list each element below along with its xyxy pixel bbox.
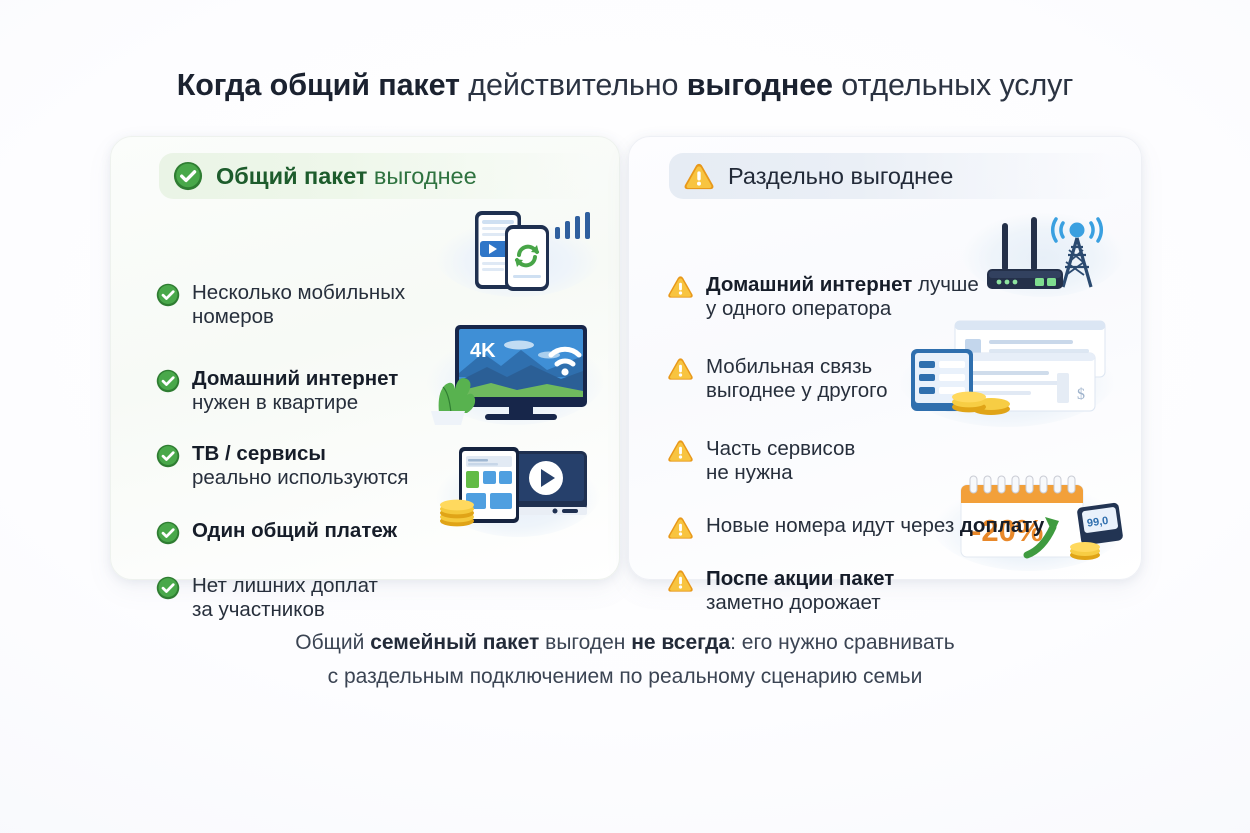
footer-note: Общий семейный пакет выгоден не всегда: … [0,626,1250,694]
svg-text:$: $ [1077,386,1085,403]
check-circle-icon [156,576,180,600]
warning-triangle-icon [667,275,694,299]
list-item: Несколько мобильных номеров [156,281,405,329]
list-item: Домашний интернет лучше у одного операто… [667,273,979,321]
footer-line-2: с раздельным подключением по реальному с… [0,660,1250,694]
check-circle-icon [156,444,180,468]
list-item-text: Часть сервисов не нужна [706,437,855,485]
list-item: Мобильная связь выгоднее у другого [667,355,888,403]
warning-triangle-icon [683,162,715,191]
check-circle-icon [156,369,180,393]
title-part-2: действительно [460,68,687,102]
list-item-text: Поспе акции пакет заметно дорожает [706,567,894,615]
list-item-text: Домашний интернет лучше у одного операто… [706,273,979,321]
panel-cons: Раздельно выгоднее [628,136,1142,580]
footer-line-1: Общий семейный пакет выгоден не всегда: … [0,626,1250,660]
svg-text:4K: 4K [470,340,496,362]
page-title: Когда общий пакет действительно выгоднее… [0,68,1250,103]
check-circle-icon [156,283,180,307]
title-part-3: выгоднее [687,68,833,102]
check-circle-icon [156,521,180,545]
list-item: Новые номера идут через доплату [667,514,1044,540]
price-tag-label: 99,0 [1086,515,1109,530]
infographic-canvas: Когда общий пакет действительно выгоднее… [0,0,1250,833]
list-item-text: Нет лишних доплат за участников [192,574,378,622]
warning-triangle-icon [667,357,694,381]
check-circle-icon [173,161,203,191]
panel-cons-header-label: Раздельно выгоднее [728,163,953,190]
list-item: Нет лишних доплат за участников [156,574,378,622]
documents-tablet-coins-illustration: $ [895,317,1119,427]
list-item-text: ТВ / сервисы реально используются [192,442,409,490]
list-item-text: Один общий платеж [192,519,397,543]
warning-triangle-icon [667,516,694,540]
title-part-1: Когда общий пакет [177,68,460,102]
list-item: Поспе акции пакет заметно дорожает [667,567,894,615]
list-item-text: Новые номера идут через доплату [706,514,1044,538]
list-item-text: Несколько мобильных номеров [192,281,405,329]
tablet-video-coins-illustration [433,437,603,537]
list-item: ТВ / сервисы реально используются [156,442,409,490]
panel-pros: Общий пакет выгоднее [110,136,620,580]
tv-4k-illustration: 4K [423,317,608,425]
title-part-4: отдельных услуг [833,68,1073,102]
list-item: Домашний интернет нужен в квартире [156,367,398,415]
list-item: Один общий платеж [156,519,397,545]
list-item-text: Мобильная связь выгоднее у другого [706,355,888,403]
panel-pros-header: Общий пакет выгоднее [159,153,593,199]
panel-cons-header: Раздельно выгоднее [669,153,1115,199]
list-item-text: Домашний интернет нужен в квартире [192,367,398,415]
list-item: Часть сервисов не нужна [667,437,855,485]
warning-triangle-icon [667,439,694,463]
router-tower-illustration [959,195,1127,297]
two-phones-illustration [433,205,603,297]
panel-pros-header-label: Общий пакет выгоднее [216,163,477,190]
warning-triangle-icon [667,569,694,593]
